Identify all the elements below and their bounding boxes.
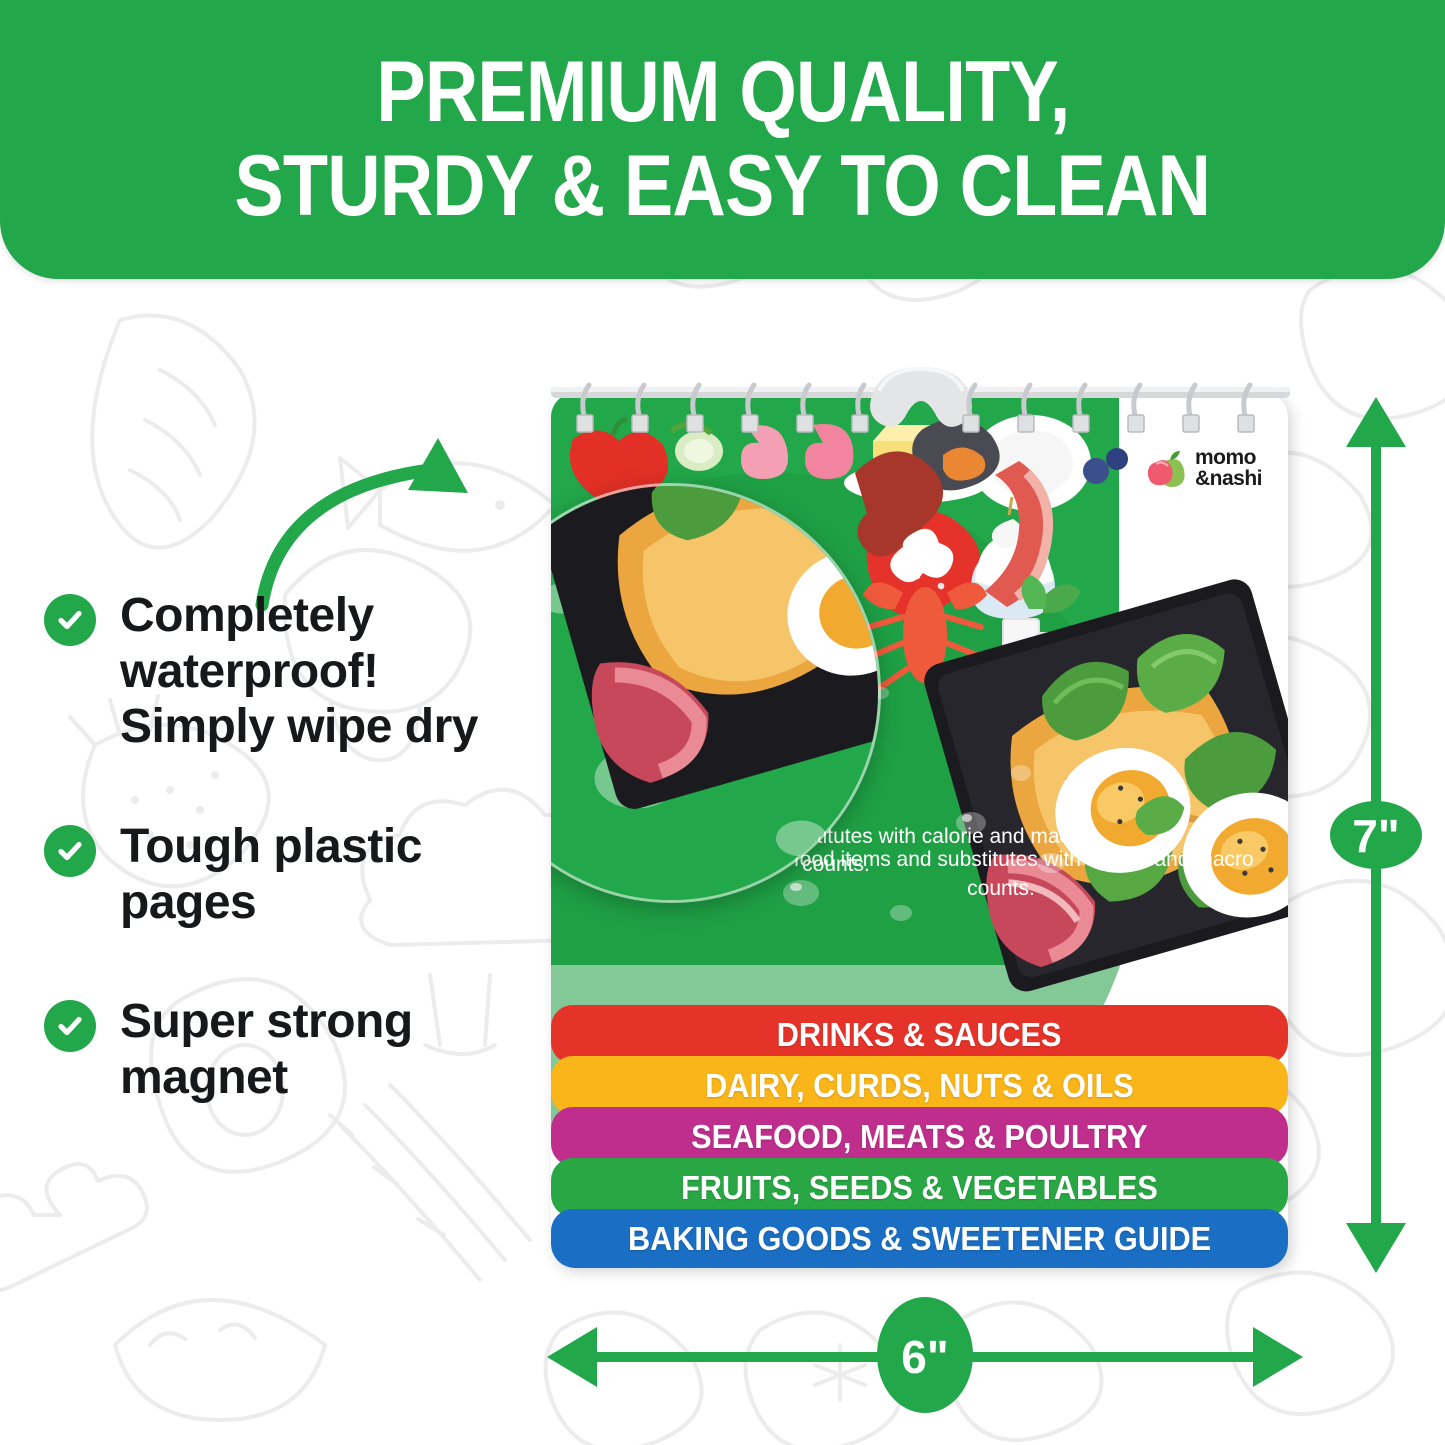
category-label-seafood-meats-poultry: SEAFOOD, MEATS & POULTRY <box>691 1118 1147 1156</box>
feature-label-tough-pages: Tough plastic pages <box>120 819 496 930</box>
dimension-width-label: 6" <box>901 1331 948 1383</box>
brand-logo-wordmark: momo &nashi <box>1195 448 1262 489</box>
feature-item-waterproof: Completely waterproof! Simply wipe dry <box>44 588 496 755</box>
brand-logo: momo &nashi <box>1146 448 1262 489</box>
peach-pear-logo-icon <box>1146 450 1186 488</box>
dimension-width-indicator: 6" <box>545 1295 1305 1415</box>
spiral-binding <box>543 365 1298 445</box>
product-card: GUIDE keto food items and substitutes wi… <box>551 393 1288 1268</box>
logo-nashi-text: &nashi <box>1195 469 1262 490</box>
category-label-baking-goods-sweetener: BAKING GOODS & SWEETENER GUIDE <box>628 1220 1211 1258</box>
category-label-dairy-curds-nuts-oils: DAIRY, CURDS, NUTS & OILS <box>705 1067 1134 1105</box>
dimension-height-label: 7" <box>1352 810 1399 862</box>
header-banner: PREMIUM QUALITY, STURDY & EASY TO CLEAN <box>0 0 1445 279</box>
feature-list: Completely waterproof! Simply wipe dry T… <box>44 588 496 1170</box>
category-bars: DRINKS & SAUCES DAIRY, CURDS, NUTS & OIL… <box>551 1005 1288 1268</box>
banner-headline-line-1: PREMIUM QUALITY, <box>376 49 1069 137</box>
feature-item-strong-magnet: Super strong magnet <box>44 994 496 1105</box>
magnifier-lens: UIDE ood items and acro counts. <box>551 483 881 903</box>
banner-headline-line-2: STURDY & EASY TO CLEAN <box>235 143 1211 231</box>
category-label-fruits-seeds-vegetables: FRUITS, SEEDS & VEGETABLES <box>681 1169 1158 1207</box>
check-circle-icon <box>44 594 96 646</box>
category-bar-baking-goods-sweetener[interactable]: BAKING GOODS & SWEETENER GUIDE <box>551 1209 1288 1268</box>
check-circle-icon <box>44 825 96 877</box>
dimension-height-indicator: 7" <box>1330 395 1440 1275</box>
logo-momo-text: momo <box>1195 448 1262 469</box>
check-circle-icon <box>44 1000 96 1052</box>
category-label-drinks-sauces: DRINKS & SAUCES <box>777 1016 1062 1054</box>
feature-label-waterproof: Completely waterproof! Simply wipe dry <box>120 588 496 755</box>
feature-item-tough-pages: Tough plastic pages <box>44 819 496 930</box>
feature-label-strong-magnet: Super strong magnet <box>120 994 496 1105</box>
